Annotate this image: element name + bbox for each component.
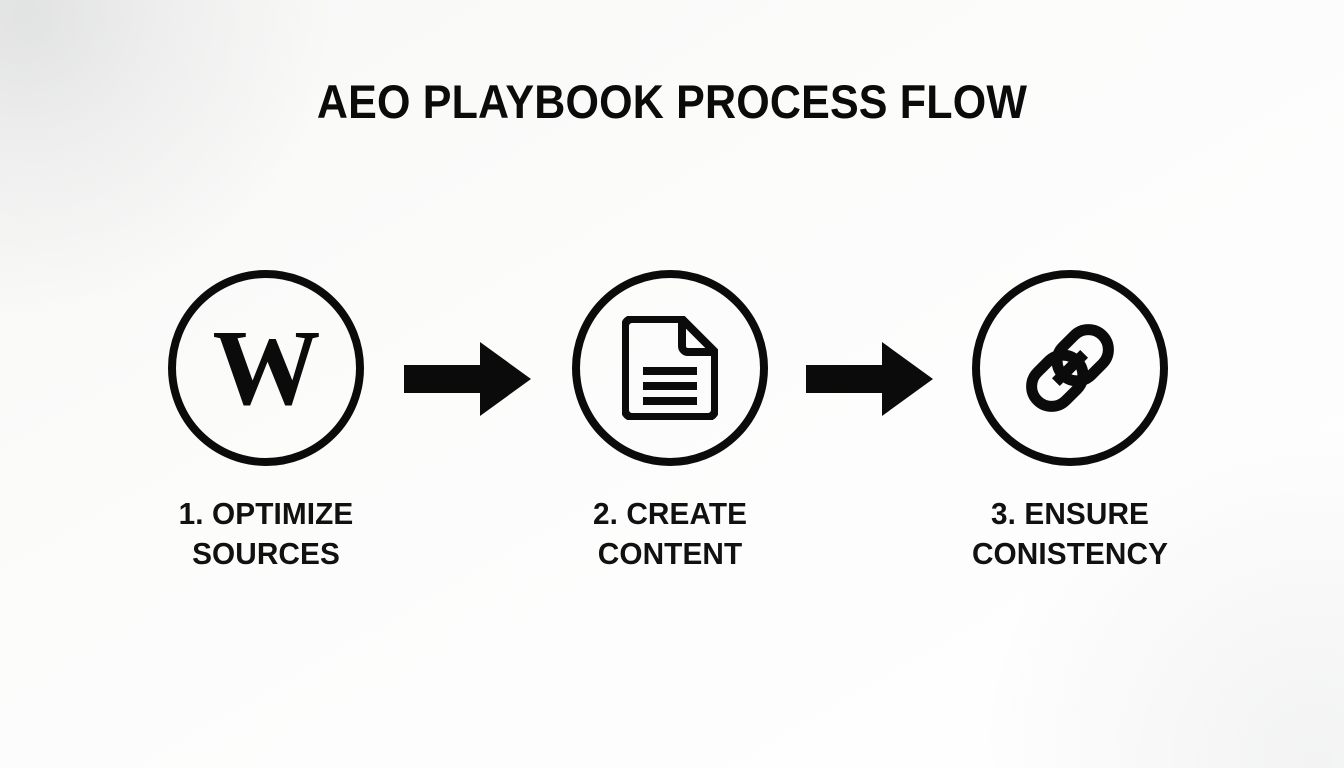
- process-flow: W 1. OPTIMIZE SOURCES: [0, 262, 1344, 602]
- step-2-circle: [572, 270, 768, 466]
- diagram-canvas: AEO PLAYBOOK PROCESS FLOW W 1. OPTIMIZE …: [0, 0, 1344, 768]
- process-step-3[interactable]: 3. ENSURE CONISTENCY: [930, 262, 1210, 602]
- step-1-circle: W: [168, 270, 364, 466]
- step-1-label-line1: 1. OPTIMIZE: [132, 494, 401, 534]
- arrow-right-icon: [806, 340, 934, 418]
- wikipedia-w-icon: W: [213, 315, 320, 423]
- process-step-2[interactable]: 2. CREATE CONTENT: [530, 262, 810, 602]
- step-2-label: 2. CREATE CONTENT: [536, 494, 805, 574]
- step-3-label-line1: 3. ENSURE: [936, 494, 1205, 534]
- step-1-icon-wrap: W: [176, 278, 356, 458]
- chain-link-icon: [1016, 314, 1124, 422]
- step-2-label-line2: CONTENT: [536, 534, 805, 574]
- step-1-label: 1. OPTIMIZE SOURCES: [132, 494, 401, 574]
- page-title: AEO PLAYBOOK PROCESS FLOW: [57, 74, 1287, 130]
- process-step-1[interactable]: W 1. OPTIMIZE SOURCES: [126, 262, 406, 602]
- step-2-label-line1: 2. CREATE: [536, 494, 805, 534]
- step-3-label-line2: CONISTENCY: [936, 534, 1205, 574]
- document-icon: [622, 316, 718, 420]
- step-3-label: 3. ENSURE CONISTENCY: [936, 494, 1205, 574]
- step-2-icon-wrap: [580, 278, 760, 458]
- step-1-label-line2: SOURCES: [132, 534, 401, 574]
- step-3-icon-wrap: [980, 278, 1160, 458]
- arrow-right-icon: [404, 340, 532, 418]
- step-3-circle: [972, 270, 1168, 466]
